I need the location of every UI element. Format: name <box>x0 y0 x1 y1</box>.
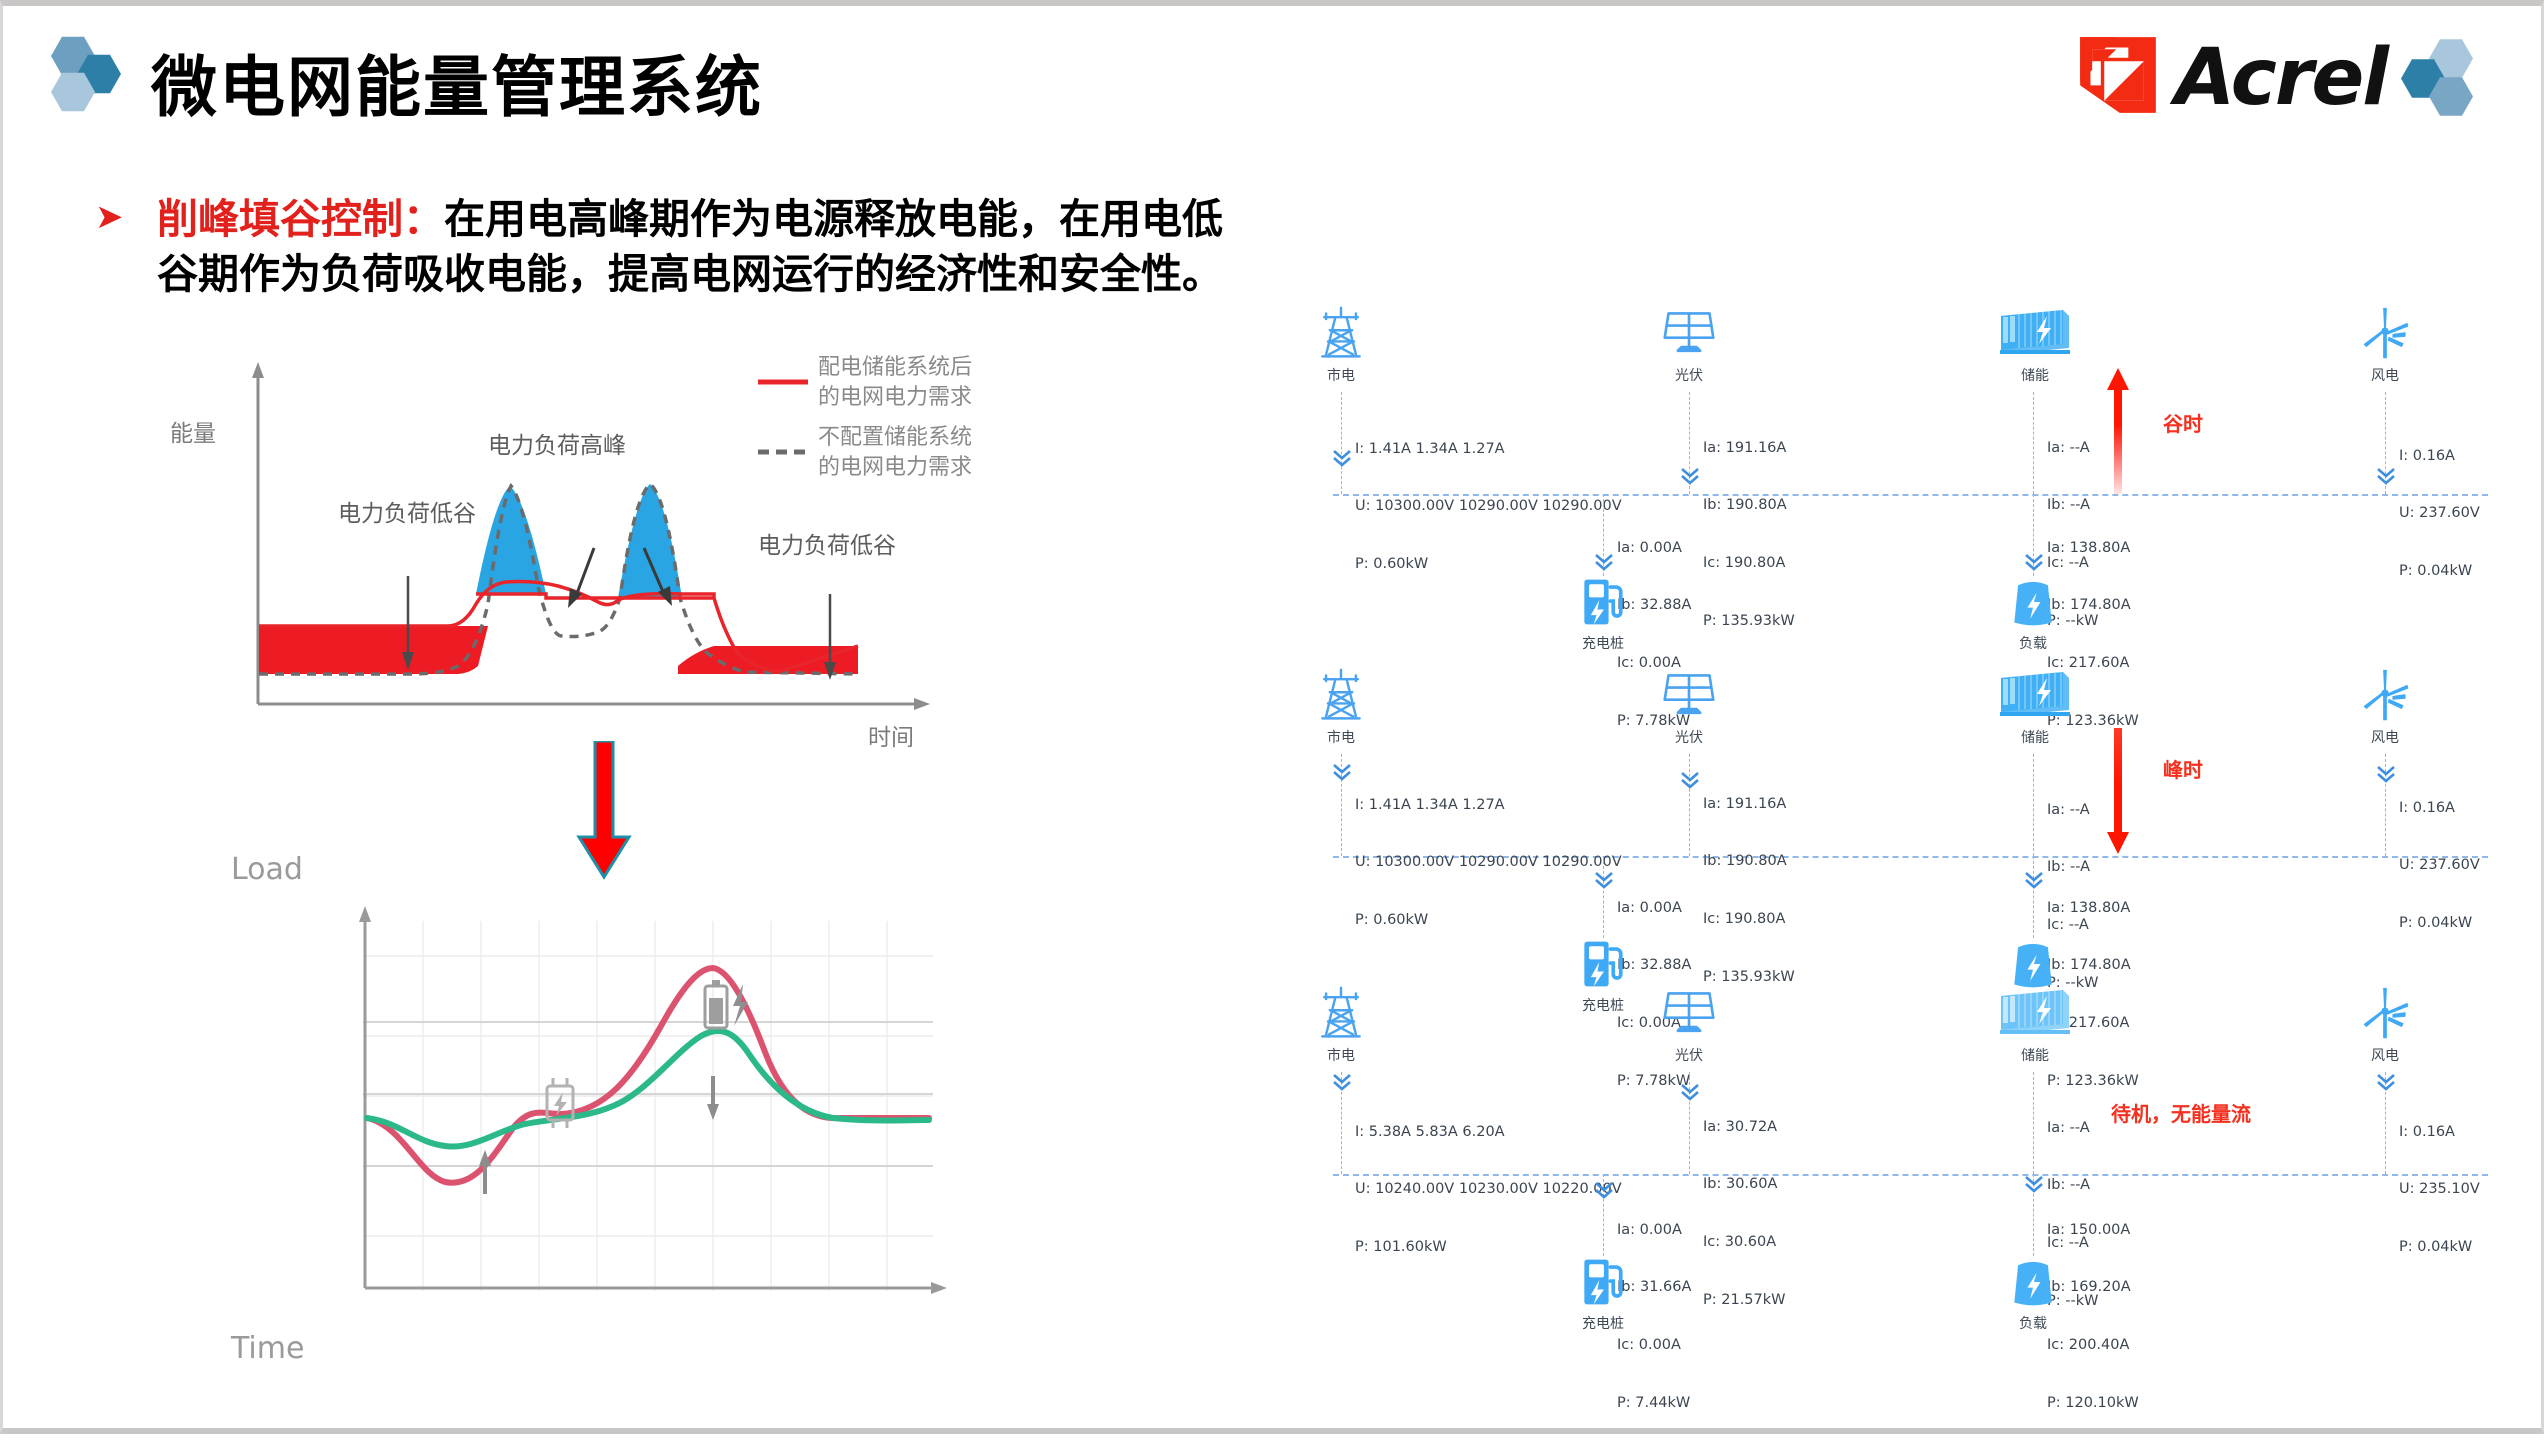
meas-line: Ib: 190.80A <box>1703 852 1795 871</box>
node-label: 光伏 <box>1629 1045 1749 1065</box>
meas-line: Ia: 0.00A <box>1617 899 1691 918</box>
diagram-row-standby: 市电 I: 5.38A 5.83A 6.20A U: 10240.00V 102… <box>1303 976 2533 1306</box>
bullet-body-line1: 在用电高峰期作为电源释放电能，在用电低 <box>444 195 1223 243</box>
meas-line: Ib: 30.60A <box>1703 1175 1785 1194</box>
meas-line: I: 0.16A <box>2399 447 2480 466</box>
node-solar-pv[interactable]: 光伏 <box>1629 668 1749 747</box>
node-label: 储能 <box>1975 727 2095 747</box>
meas-line: Ic: 30.60A <box>1703 1233 1785 1252</box>
node-solar-pv[interactable]: 光伏 <box>1629 986 1749 1065</box>
node-energy-storage[interactable]: 储能 <box>1975 986 2095 1065</box>
red-arrow-down-icon <box>2105 728 2131 856</box>
meas-line: Ia: 0.00A <box>1617 1221 1691 1240</box>
meas-line: P: 120.10kW <box>2047 1394 2139 1413</box>
chart1-legend-item-1-line2: 的电网电力需求 <box>818 454 972 482</box>
node-label: 市电 <box>1281 365 1401 385</box>
meas-line: P: 135.93kW <box>1703 612 1795 631</box>
bullet-heading: 削峰填谷控制： <box>157 195 444 243</box>
chevron-double-down-icon <box>2023 1174 2045 1194</box>
chevron-double-down-icon <box>2375 1072 2397 1092</box>
node-utility-grid[interactable]: 市电 <box>1281 668 1401 747</box>
flow-line-charger <box>1603 856 1604 938</box>
meas-line: P: 0.04kW <box>2399 1238 2480 1257</box>
measurements-wind: I: 0.16A U: 237.60V P: 0.04kW <box>2399 760 2480 972</box>
meas-line: Ia: --A <box>2047 1119 2098 1138</box>
period-tag: 谷时 <box>2163 408 2203 437</box>
meas-line: Ic: 200.40A <box>2047 1336 2139 1355</box>
solar-panel-icon <box>1659 306 1719 362</box>
node-label: 充电桩 <box>1543 1313 1663 1333</box>
chevron-double-down-icon <box>2023 552 2045 572</box>
meas-line: P: 0.04kW <box>2399 562 2480 581</box>
node-utility-grid[interactable]: 市电 <box>1281 986 1401 1065</box>
node-wind-power[interactable]: 风电 <box>2325 306 2445 385</box>
meas-line: U: 10240.00V 10230.00V 10220.00V <box>1355 1180 1622 1199</box>
node-energy-storage[interactable]: 储能 <box>1975 668 2095 747</box>
chart2-xlabel: Time <box>231 1331 304 1366</box>
meas-line: U: 10300.00V 10290.00V 10290.00V <box>1355 497 1622 516</box>
chart1-legend-item-0-line2: 的电网电力需求 <box>818 384 972 412</box>
measurements-solar: Ia: 191.16A Ib: 190.80A Ic: 190.80A P: 1… <box>1703 400 1795 670</box>
meas-line: Ia: 0.00A <box>1617 539 1691 558</box>
brand-logo: Acrel <box>2075 32 2479 123</box>
node-label: 市电 <box>1281 727 1401 747</box>
chevron-double-down-icon <box>2375 764 2397 784</box>
node-utility-grid[interactable]: 市电 <box>1281 306 1401 385</box>
meas-line: Ia: 150.00A <box>2047 1221 2139 1240</box>
page-title: 微电网能量管理系统 <box>151 34 763 130</box>
load-shifting-chart: Load Time <box>213 826 1023 1386</box>
meas-line: U: 237.60V <box>2399 856 2480 875</box>
flow-line-load <box>2033 856 2034 938</box>
measurements-solar: Ia: 30.72A Ib: 30.60A Ic: 30.60A P: 21.5… <box>1703 1079 1785 1349</box>
wind-turbine-icon <box>2355 668 2415 724</box>
meas-line: I: 0.16A <box>2399 799 2480 818</box>
node-label: 光伏 <box>1629 727 1749 747</box>
node-load[interactable]: 负载 <box>1973 1254 2093 1333</box>
meas-line: P: 0.60kW <box>1355 911 1622 930</box>
bullet-body-line2: 谷期作为负荷吸收电能，提高电网运行的经济性和安全性。 <box>157 250 1223 298</box>
wind-turbine-icon <box>2355 986 2415 1042</box>
meas-line: U: 235.10V <box>2399 1180 2480 1199</box>
node-ev-charger[interactable]: 充电桩 <box>1543 1254 1663 1333</box>
meas-line: I: 5.38A 5.83A 6.20A <box>1355 1123 1622 1142</box>
node-label: 风电 <box>2325 365 2445 385</box>
node-label: 充电桩 <box>1543 633 1663 653</box>
utility-grid-tower-icon <box>1311 668 1371 724</box>
solar-panel-icon <box>1659 986 1719 1042</box>
solar-panel-icon <box>1659 668 1719 724</box>
meas-line: U: 10300.00V 10290.00V 10290.00V <box>1355 853 1622 872</box>
chevron-double-down-icon <box>1593 552 1615 572</box>
flow-line-storage <box>2033 754 2034 856</box>
chevron-right-bullet-icon: ➤ <box>95 200 124 234</box>
brand-name: Acrel <box>2175 39 2387 117</box>
meas-line: Ia: 191.16A <box>1703 795 1795 814</box>
slide-root: 微电网能量管理系统 Acrel ➤ <box>0 0 2544 1434</box>
battery-container-icon <box>1997 668 2073 724</box>
meas-line: Ib: 190.80A <box>1703 496 1795 515</box>
chevron-double-down-icon <box>1679 1082 1701 1102</box>
node-label: 市电 <box>1281 1045 1401 1065</box>
meas-line: Ia: 30.72A <box>1703 1118 1785 1137</box>
ev-charger-icon <box>1573 1254 1633 1310</box>
chart1-annotation-valley-left: 电力负荷低谷 <box>338 494 476 528</box>
meas-line: Ic: 190.80A <box>1703 554 1795 573</box>
chart2-ylabel: Load <box>231 852 303 887</box>
flow-line-utility <box>1341 392 1342 494</box>
chevron-double-down-icon <box>1593 870 1615 890</box>
node-label: 光伏 <box>1629 365 1749 385</box>
meas-line: I: 0.16A <box>2399 1123 2480 1142</box>
microgrid-energy-flow-diagram: 市电 I: 1.41A 1.34A 1.27A U: 10300.00V 102… <box>1303 296 2533 1396</box>
chevron-double-down-icon <box>1331 762 1353 782</box>
ev-charger-icon <box>1573 574 1633 630</box>
battery-container-icon <box>1997 986 2073 1042</box>
hexagon-cluster-icon-right <box>2401 39 2479 117</box>
node-label: 风电 <box>2325 1045 2445 1065</box>
chevron-double-down-icon <box>1679 466 1701 486</box>
meas-line: Ia: 138.80A <box>2047 539 2139 558</box>
flow-line-storage <box>2033 392 2034 494</box>
battery-bolt-icon <box>705 980 748 1028</box>
meas-line: Ia: 138.80A <box>2047 899 2139 918</box>
meas-line: I: 1.41A 1.34A 1.27A <box>1355 796 1622 815</box>
chart1-legend-item-0-line1: 配电储能系统后 <box>818 354 972 382</box>
node-load[interactable]: 负载 <box>1973 574 2093 653</box>
meas-line: Ic: 190.80A <box>1703 910 1795 929</box>
node-label: 负载 <box>1973 1313 2093 1333</box>
meas-line: P: 21.57kW <box>1703 1291 1785 1310</box>
chevron-double-down-icon <box>2375 466 2397 486</box>
meas-line: I: 1.41A 1.34A 1.27A <box>1355 440 1622 459</box>
measurements-wind: I: 0.16A U: 237.60V P: 0.04kW <box>2399 408 2480 620</box>
node-label: 风电 <box>2325 727 2445 747</box>
meas-line: P: 7.44kW <box>1617 1394 1691 1413</box>
load-bag-icon <box>2003 1254 2063 1310</box>
node-label: 负载 <box>1973 633 2093 653</box>
meas-line: U: 237.60V <box>2399 504 2480 523</box>
node-label: 储能 <box>1975 1045 2095 1065</box>
peak-shaving-energy-chart: 能量 时间 电力负荷高峰 电力负荷低谷 电力负荷低谷 配电储能系统后 的电网电力… <box>158 336 1038 766</box>
chevron-double-down-icon <box>1331 448 1353 468</box>
load-bag-icon <box>2003 574 2063 630</box>
node-energy-storage[interactable]: 储能 <box>1975 306 2095 385</box>
meas-line: Ia: --A <box>2047 439 2098 458</box>
diagram-row-valley: 市电 I: 1.41A 1.34A 1.27A U: 10300.00V 102… <box>1303 296 2533 626</box>
diagram-row-peak: 市电 I: 1.41A 1.34A 1.27A U: 10300.00V 102… <box>1303 658 2533 988</box>
measurements-wind: I: 0.16A U: 235.10V P: 0.04kW <box>2399 1084 2480 1296</box>
meas-line: Ia: 191.16A <box>1703 439 1795 458</box>
meas-line: Ic: 0.00A <box>1617 1336 1691 1355</box>
chart1-annotation-valley-right: 电力负荷低谷 <box>758 526 896 560</box>
red-arrow-up-icon <box>2105 366 2131 494</box>
flow-line-storage <box>2033 1072 2034 1174</box>
bullet-text: 削峰填谷控制：在用电高峰期作为电源释放电能，在用电低 谷期作为负荷吸收电能，提高… <box>157 192 1345 301</box>
chart1-ylabel: 能量 <box>170 414 216 448</box>
bullet-block: ➤ 削峰填谷控制：在用电高峰期作为电源释放电能，在用电低 谷期作为负荷吸收电能，… <box>95 192 1345 301</box>
utility-grid-tower-icon <box>1311 986 1371 1042</box>
chart1-annotation-peak: 电力负荷高峰 <box>488 426 626 460</box>
meas-line: P: 0.60kW <box>1355 555 1622 574</box>
acrel-square-logo-icon <box>2075 32 2161 123</box>
chart1-xlabel: 时间 <box>868 718 914 752</box>
node-wind-power[interactable]: 风电 <box>2325 986 2445 1065</box>
chevron-double-down-icon <box>2023 870 2045 890</box>
plug-charge-icon <box>547 1078 573 1128</box>
period-tag: 待机，无能量流 <box>2111 1098 2251 1127</box>
battery-container-icon <box>1997 306 2073 362</box>
hexagon-cluster-icon <box>51 36 129 114</box>
chart2-svg <box>213 826 1023 1386</box>
chart1-legend-item-1-line1: 不配置储能系统 <box>818 424 972 452</box>
chevron-double-down-icon <box>1679 770 1701 790</box>
meas-line: Ia: --A <box>2047 801 2098 820</box>
node-solar-pv[interactable]: 光伏 <box>1629 306 1749 385</box>
wind-turbine-icon <box>2355 306 2415 362</box>
node-ev-charger[interactable]: 充电桩 <box>1543 574 1663 653</box>
chevron-double-down-icon <box>1331 1072 1353 1092</box>
period-tag: 峰时 <box>2163 754 2203 783</box>
meas-line: P: 0.04kW <box>2399 914 2480 933</box>
node-label: 储能 <box>1975 365 2095 385</box>
utility-grid-tower-icon <box>1311 306 1371 362</box>
node-wind-power[interactable]: 风电 <box>2325 668 2445 747</box>
chevron-double-down-icon <box>1593 1180 1615 1200</box>
